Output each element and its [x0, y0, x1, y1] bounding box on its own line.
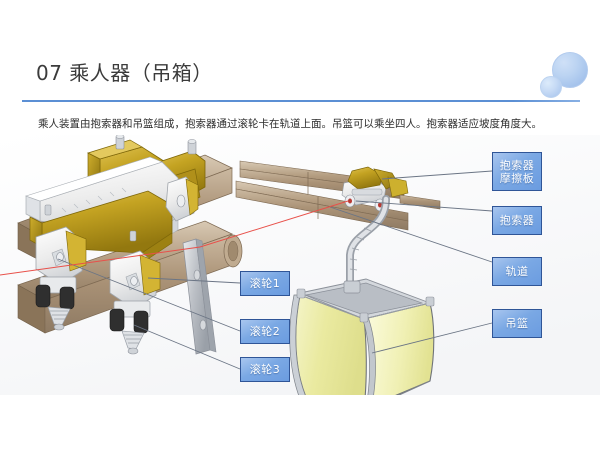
callout-friction-plate[interactable]: 抱索器 摩擦板 [492, 152, 542, 191]
callout-line: 滚轮2 [250, 325, 281, 338]
callout-line: 轨道 [506, 265, 529, 278]
callout-line: 抱索器 [500, 159, 535, 172]
callout-line: 滚轮3 [250, 363, 281, 376]
callout-roller-1[interactable]: 滚轮1 [240, 271, 290, 296]
decorative-circle-small-icon [540, 76, 562, 98]
slide-description: 乘人装置由抱索器和吊篮组成，抱索器通过滚轮卡在轨道上面。吊篮可以乘坐四人。抱索器… [38, 117, 578, 132]
callout-roller-3[interactable]: 滚轮3 [240, 357, 290, 382]
title-divider [22, 100, 580, 102]
callout-grip[interactable]: 抱索器 [492, 206, 542, 235]
callout-line: 抱索器 [500, 214, 535, 227]
callout-roller-2[interactable]: 滚轮2 [240, 319, 290, 344]
callout-line: 滚轮1 [250, 277, 281, 290]
callout-track[interactable]: 轨道 [492, 257, 542, 286]
page-title: 07 乘人器（吊箱） [36, 59, 213, 87]
gondola-cabin [290, 279, 434, 395]
callout-line: 吊篮 [506, 317, 529, 330]
callout-line: 摩擦板 [500, 172, 535, 185]
callout-cabin[interactable]: 吊篮 [492, 309, 542, 338]
slide-root: 07 乘人器（吊箱） 乘人装置由抱索器和吊篮组成，抱索器通过滚轮卡在轨道上面。吊… [0, 0, 600, 450]
